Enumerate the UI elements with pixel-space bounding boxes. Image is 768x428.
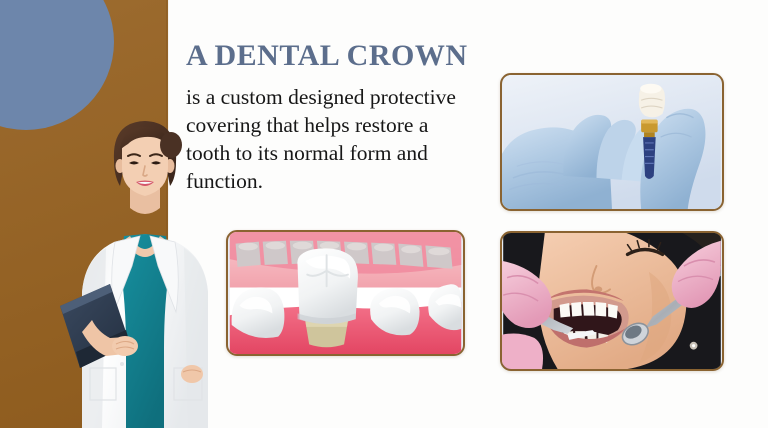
photo-crown-diagram: [226, 230, 465, 356]
slide-canvas: A DENTAL CROWN is a custom designed prot…: [0, 0, 768, 428]
body-copy: is a custom designed protective covering…: [186, 83, 458, 195]
photo-implant-crown: [500, 73, 724, 211]
photo-dental-exam: [500, 231, 724, 371]
text-block: A DENTAL CROWN is a custom designed prot…: [186, 40, 486, 195]
page-title: A DENTAL CROWN: [186, 40, 486, 72]
